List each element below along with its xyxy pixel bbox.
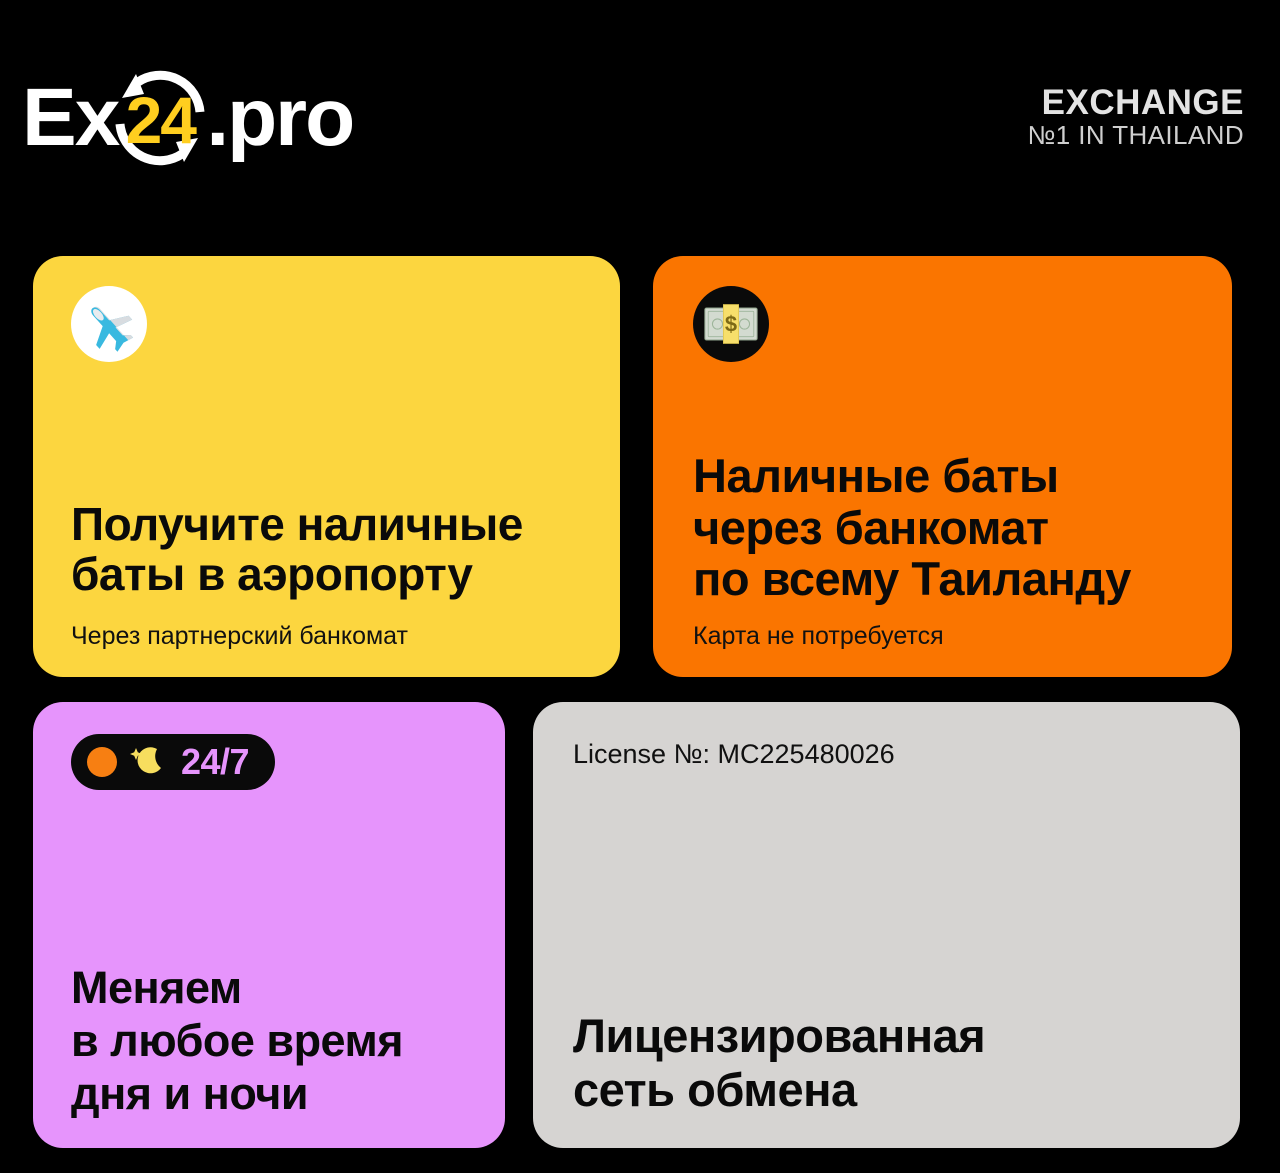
badge-label: 24/7 xyxy=(181,744,249,780)
card-24-7[interactable]: 24/7 Меняем в любое время дня и ночи xyxy=(33,702,505,1148)
page-header: Ex 24 .pro EXCHANGE №1 IN THAILAND xyxy=(0,0,1280,240)
crescent-moon-icon xyxy=(127,745,165,779)
brand-logo[interactable]: Ex 24 .pro xyxy=(22,68,353,168)
card-title: Наличные баты через банкомат по всему Та… xyxy=(693,450,1198,605)
logo-24-badge: 24 xyxy=(108,66,212,170)
card-subtitle: Через партнерский банкомат xyxy=(71,621,582,651)
banknotes-icon: $ xyxy=(704,304,758,344)
card-title: Получите наличные баты в аэропорту xyxy=(71,499,582,599)
logo-badge-number: 24 xyxy=(126,84,195,153)
logo-suffix: .pro xyxy=(206,77,353,159)
license-number: License №: MC225480026 xyxy=(573,738,1200,770)
card-title: Меняем в любое время дня и ночи xyxy=(71,961,471,1120)
svg-text:$: $ xyxy=(725,312,737,337)
card-title: Лицензированная сеть обмена xyxy=(573,1009,1200,1118)
banknotes-icon-circle: $ xyxy=(693,286,769,362)
badge-24-7: 24/7 xyxy=(71,734,275,790)
card-subtitle: Карта не потребуется xyxy=(693,621,1198,651)
tagline-main: EXCHANGE xyxy=(1027,84,1244,121)
tagline-sub: №1 IN THAILAND xyxy=(1027,122,1244,150)
logo-prefix: Ex xyxy=(22,77,118,159)
card-atm[interactable]: $ Наличные баты через банкомат по всему … xyxy=(653,256,1232,677)
sun-icon xyxy=(87,747,117,777)
airplane-icon-circle xyxy=(71,286,147,362)
card-airport[interactable]: Получите наличные баты в аэропорту Через… xyxy=(33,256,620,677)
airplane-icon xyxy=(81,296,137,352)
card-license[interactable]: License №: MC225480026 Лицензированная с… xyxy=(533,702,1240,1148)
tagline: EXCHANGE №1 IN THAILAND xyxy=(1027,84,1244,150)
